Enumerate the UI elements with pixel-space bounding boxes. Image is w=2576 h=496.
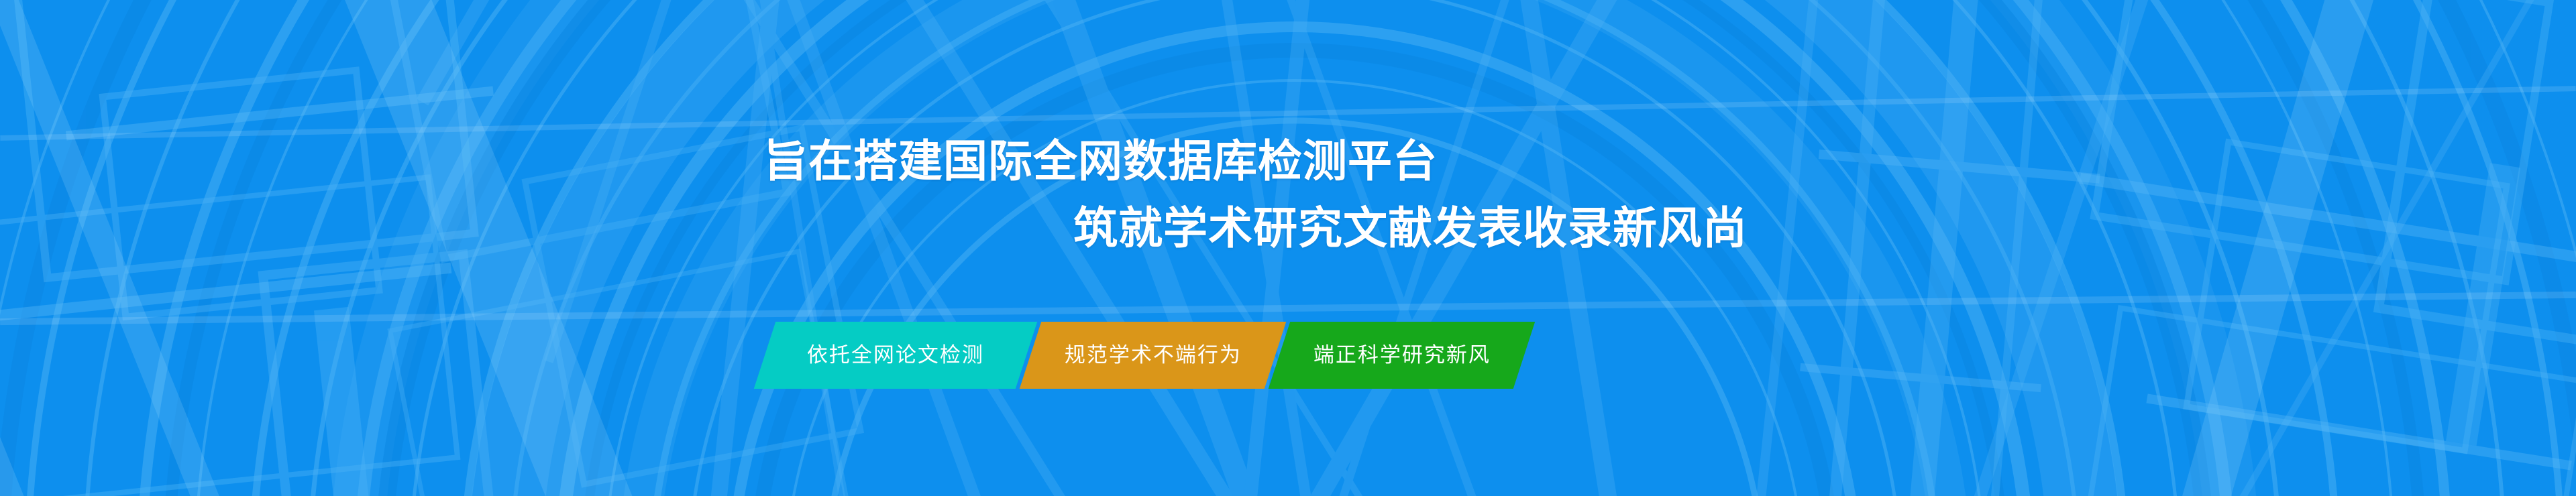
headline-line-1: 旨在搭建国际全网数据库检测平台	[763, 139, 1438, 184]
feature-tag-misconduct[interactable]: 规范学术不端行为	[1020, 322, 1286, 389]
feature-tag-bar: 依托全网论文检测 规范学术不端行为 端正科学研究新风	[765, 322, 1524, 389]
feature-tag-detection[interactable]: 依托全网论文检测	[754, 322, 1037, 389]
feature-tag-misconduct-label: 规范学术不端行为	[1065, 345, 1242, 366]
headline-block: 旨在搭建国际全网数据库检测平台 筑就学术研究文献发表收录新风尚	[0, 0, 2576, 496]
feature-tag-integrity-label: 端正科学研究新风	[1313, 345, 1491, 366]
feature-tag-integrity[interactable]: 端正科学研究新风	[1269, 322, 1535, 389]
feature-tag-detection-label: 依托全网论文检测	[807, 345, 984, 366]
headline-line-2: 筑就学术研究文献发表收录新风尚	[1073, 206, 1748, 251]
promo-banner: 旨在搭建国际全网数据库检测平台 筑就学术研究文献发表收录新风尚 依托全网论文检测…	[0, 0, 2576, 496]
